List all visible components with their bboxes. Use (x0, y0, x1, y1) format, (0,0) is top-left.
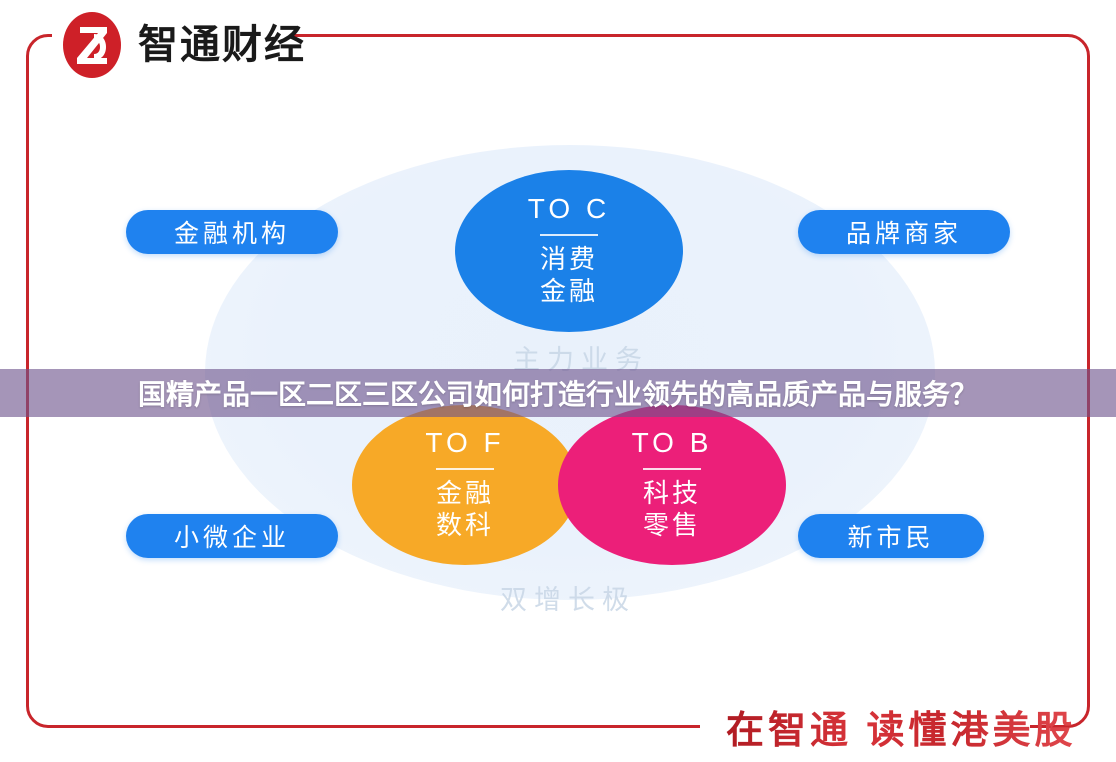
bubble-to-c-cn-line2: 金融 (540, 276, 598, 308)
footer-tagline: 在智通 读懂港美股 (726, 699, 1077, 754)
bubble-to-b-eng: TO B (632, 428, 713, 459)
bubble-to-b-cn-line1: 科技 (643, 478, 701, 510)
bubble-to-f-divider (436, 468, 494, 470)
bubble-to-b: TO B 科技 零售 (558, 405, 786, 565)
watermark-dual-growth: 双增长极 (500, 578, 636, 617)
zhitong-z-logo-icon (60, 10, 124, 80)
headline-overlay-banner: 国精产品一区二区三区公司如何打造行业领先的高品质产品与服务？ (0, 369, 1116, 417)
bubble-to-b-cn-line2: 零售 (643, 510, 701, 542)
bubble-to-f-cn-line1: 金融 (436, 478, 494, 510)
bubble-to-c-eng: TO C (528, 194, 610, 225)
bubble-to-f-eng: TO F (425, 428, 504, 459)
brand-name: 智通财经 (138, 25, 306, 65)
pill-small-micro-enterprises: 小微企业 (126, 514, 338, 558)
bubble-to-f-cn-line2: 数科 (436, 510, 494, 542)
bubble-to-c-cn-line1: 消费 (540, 244, 598, 276)
bubble-to-c: TO C 消费 金融 (455, 170, 683, 332)
bubble-to-b-divider (643, 468, 701, 470)
pill-new-citizens: 新市民 (798, 514, 984, 558)
pill-financial-institutions: 金融机构 (126, 210, 338, 254)
brand-logo: 智通财经 (60, 10, 306, 80)
bubble-to-c-divider (540, 234, 598, 236)
bubble-to-f: TO F 金融 数科 (352, 405, 578, 565)
pill-brand-merchants: 品牌商家 (798, 210, 1010, 254)
headline-text: 国精产品一区二区三区公司如何打造行业领先的高品质产品与服务？ (138, 373, 978, 413)
